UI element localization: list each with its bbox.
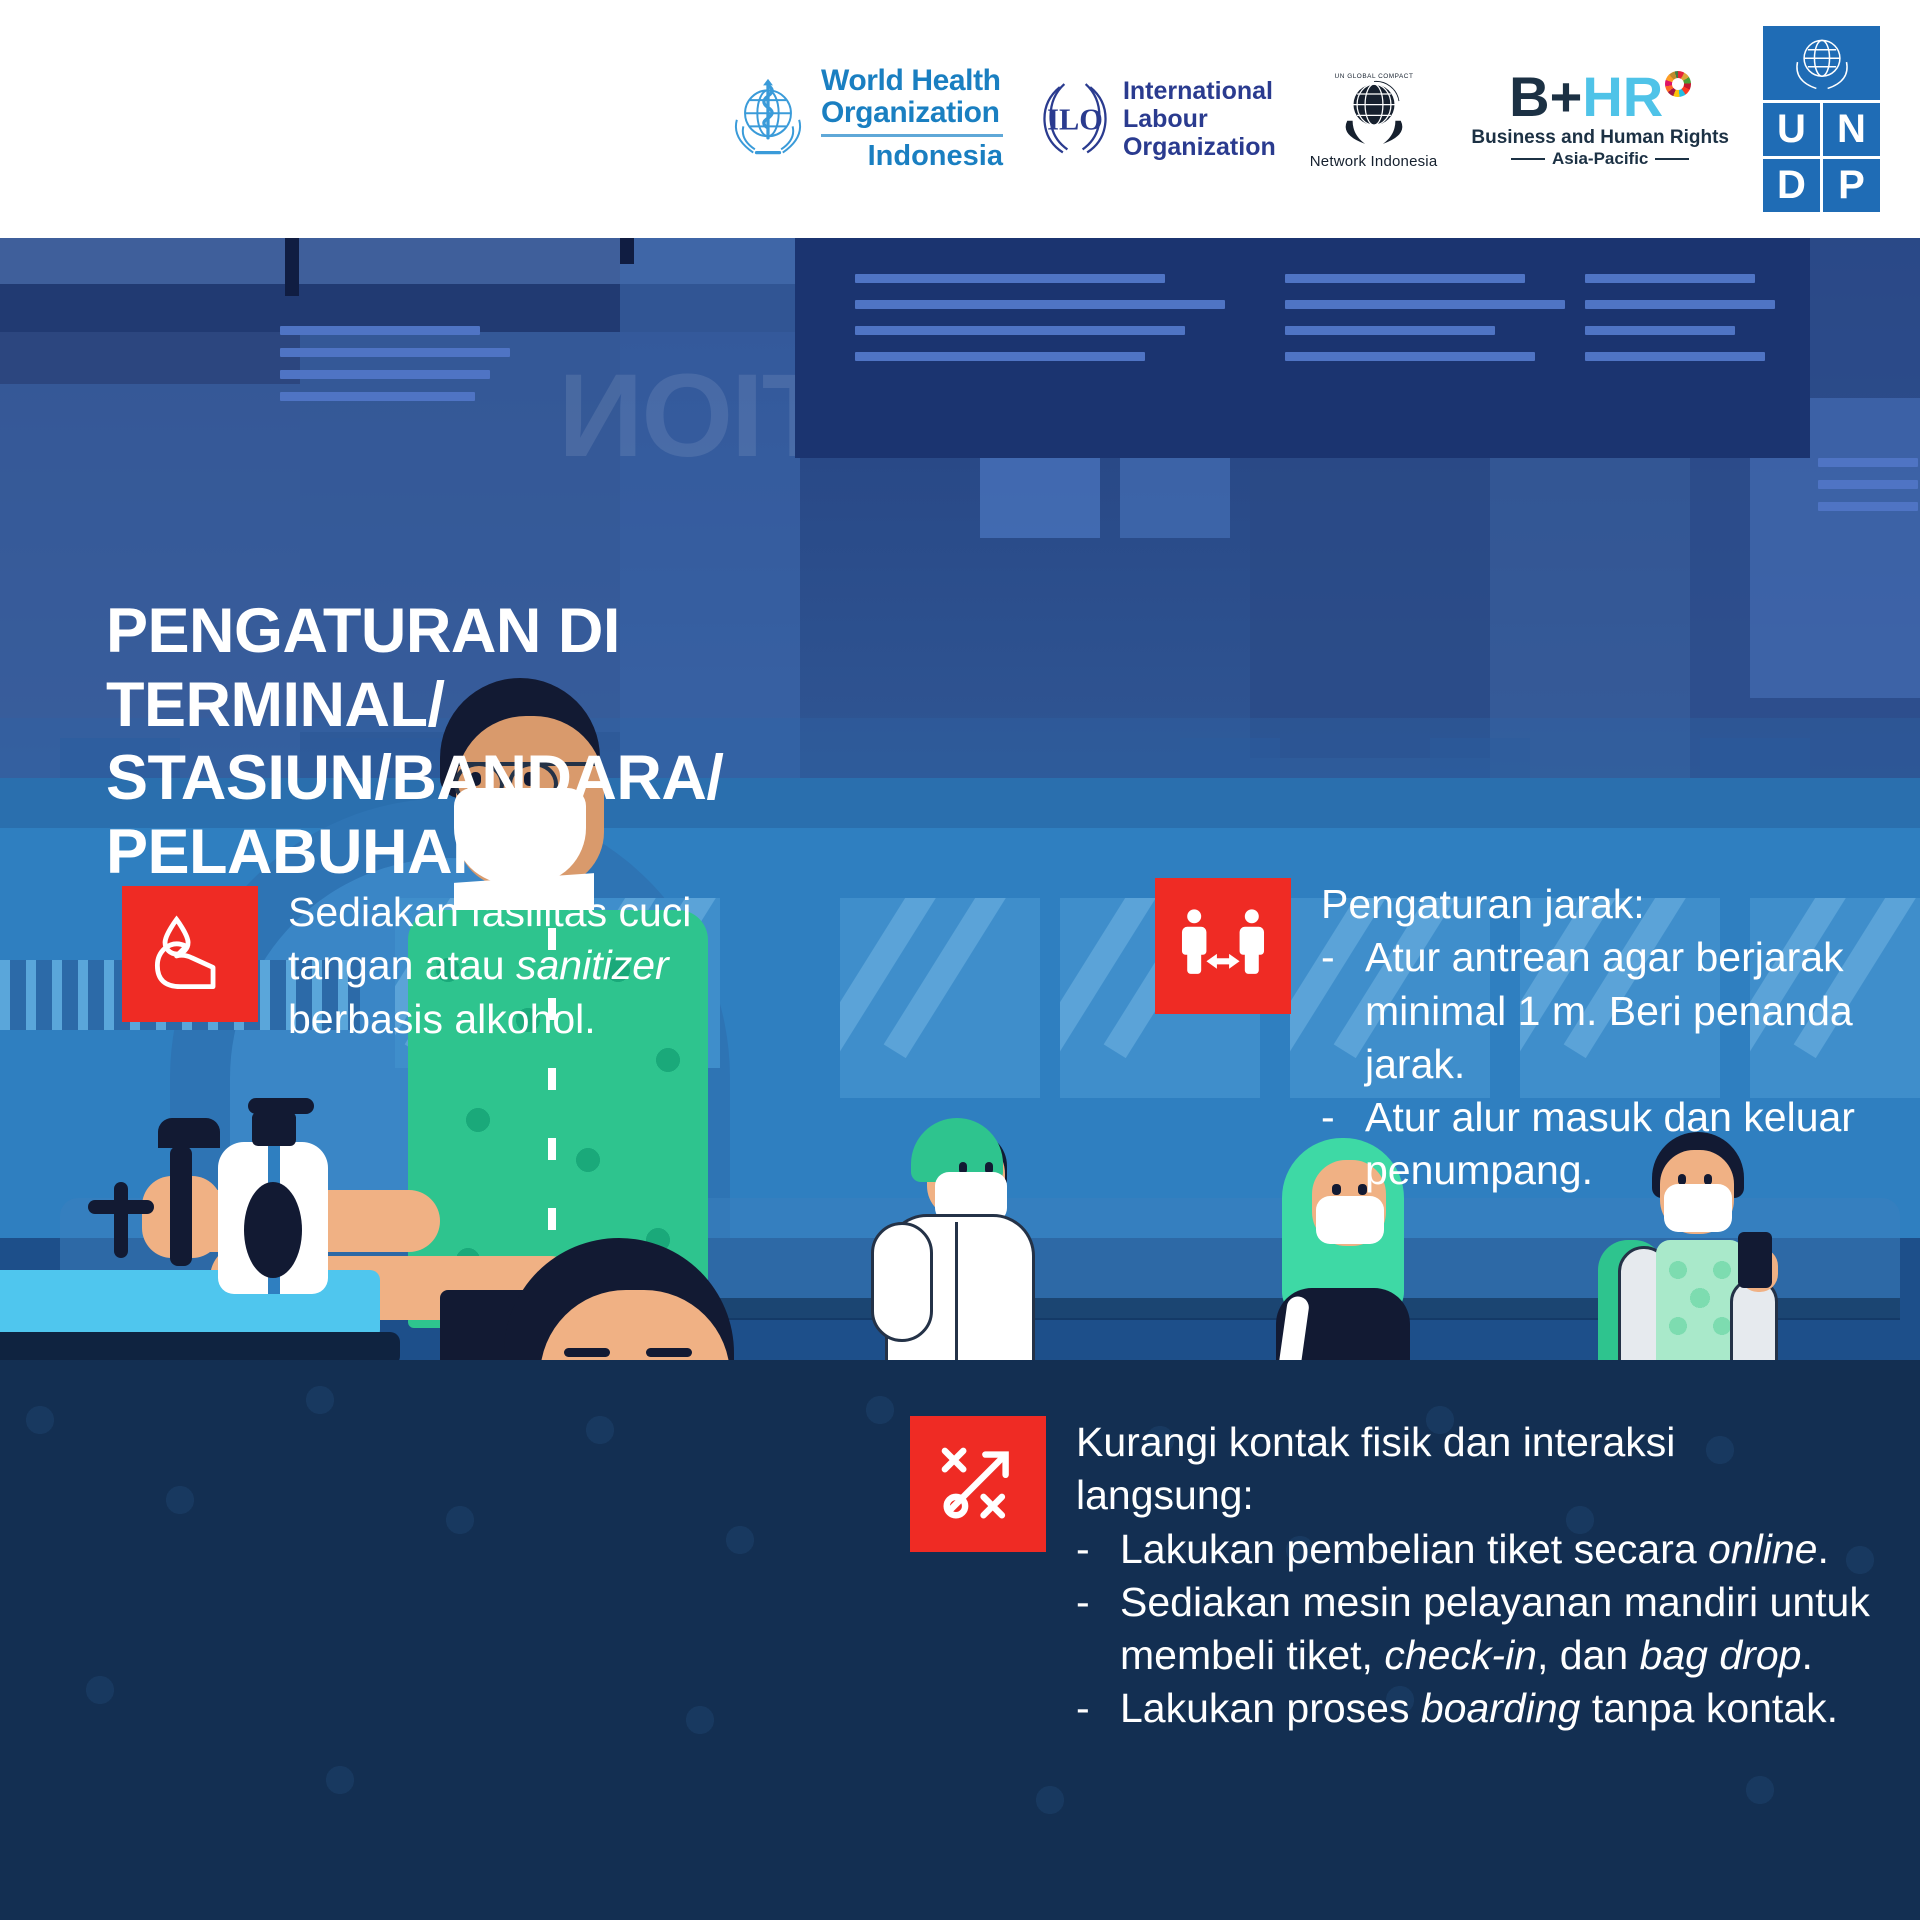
board-text-line: [1585, 274, 1755, 283]
rc1-pre: Lakukan pembelian tiket secara: [1120, 1526, 1708, 1572]
ilo-name-line3: Organization: [1123, 133, 1276, 161]
ilo-emblem-icon: ILO: [1037, 79, 1113, 159]
physical-distancing-icon: [1155, 878, 1291, 1014]
who-name-line1: World Health: [821, 65, 1003, 97]
rc2-post2: .: [1801, 1632, 1812, 1678]
reduce-contact-heading-2: langsung:: [1076, 1469, 1900, 1522]
rc2-em2: bag drop: [1640, 1632, 1802, 1678]
rc3-em: boarding: [1421, 1685, 1581, 1731]
bhr-letter-b: B: [1509, 69, 1549, 125]
global-compact-caption: Network Indonesia: [1310, 153, 1438, 170]
hand-wash-icon: [122, 886, 258, 1022]
rc3-post: tanpa kontak.: [1580, 1685, 1838, 1731]
rc2-em: check-in: [1384, 1632, 1537, 1678]
soap-pump-body: [252, 1112, 296, 1146]
ilo-mark-text: ILO: [1047, 103, 1103, 137]
rc2-post: , dan: [1537, 1632, 1640, 1678]
person-eyebrow: [646, 1348, 692, 1357]
distancing-item-text: Atur alur masuk dan keluar penumpang.: [1365, 1091, 1895, 1198]
bhr-plus-sign: +: [1550, 69, 1583, 125]
infographic-poster: World Health Organization Indonesia ILO: [0, 0, 1920, 1920]
page-title-line-1: PENGATURAN DI TERMINAL/: [106, 595, 946, 742]
advice-block-handwash: Sediakan fasilitas cuci tangan atau sani…: [122, 886, 762, 1046]
faucet-valve-stem: [114, 1182, 128, 1258]
board-text-line: [1818, 502, 1918, 511]
poster-illustration-scene: STATION: [0, 238, 1920, 1920]
reduce-contact-heading-1: Kurangi kontak fisik dan interaksi: [1076, 1416, 1900, 1469]
board-text-line: [280, 392, 475, 401]
global-compact-emblem-icon: UN GLOBAL COMPACT: [1328, 69, 1420, 151]
undp-letter-n: N: [1823, 103, 1880, 156]
ceiling-rod: [285, 238, 299, 296]
board-text-line: [1585, 300, 1775, 309]
rc1-em: online: [1708, 1526, 1817, 1572]
board-text-line: [1285, 352, 1535, 361]
board-text-line: [280, 370, 490, 379]
who-divider: [821, 134, 1003, 137]
reduce-contact-item: - Sediakan mesin pelayanan mandiri untuk…: [1076, 1576, 1900, 1683]
bullet-dash: -: [1076, 1576, 1098, 1683]
bhr-subtitle: Business and Human Rights: [1471, 127, 1729, 149]
reduce-contact-item-1: Lakukan pembelian tiket secara online.: [1120, 1523, 1900, 1576]
logo-world-health-organization: World Health Organization Indonesia: [727, 65, 1003, 173]
bg-block: [0, 332, 300, 384]
board-text-line: [280, 326, 480, 335]
who-name-line2: Organization: [821, 97, 1003, 129]
advice-text-distancing: Pengaturan jarak: - Atur antrean agar be…: [1321, 878, 1895, 1198]
bullet-dash: -: [1076, 1523, 1098, 1576]
soap-dispenser: [218, 1104, 328, 1294]
bhr-letters-hr: HR: [1582, 69, 1663, 125]
ceiling-rod: [620, 238, 634, 264]
advice-block-distancing: Pengaturan jarak: - Atur antrean agar be…: [1155, 878, 1895, 1198]
handwash-line-3: berbasis alkohol.: [288, 996, 596, 1042]
board-text-line: [855, 352, 1145, 361]
bullet-dash: -: [1321, 931, 1343, 1091]
logo-international-labour-organization: ILO International Labour Organization: [1037, 77, 1276, 161]
soap-pump-nozzle: [248, 1098, 314, 1114]
secondary-board-right: [1818, 448, 1920, 558]
distancing-item: - Atur antrean agar berjarak minimal 1 m…: [1321, 931, 1895, 1091]
distancing-heading: Pengaturan jarak:: [1321, 878, 1895, 931]
who-country-label: Indonesia: [821, 140, 1003, 173]
global-compact-ring-text: UN GLOBAL COMPACT: [1334, 72, 1413, 79]
faucet-spout: [170, 1146, 192, 1266]
handwash-line-2-em: sanitizer: [516, 942, 669, 988]
undp-letter-p: P: [1823, 159, 1880, 212]
rc3-pre: Lakukan proses: [1120, 1685, 1421, 1731]
reduce-contact-item-2: Sediakan mesin pelayanan mandiri untuk m…: [1120, 1576, 1900, 1683]
passenger-face-mask: [1316, 1196, 1384, 1244]
person-eyebrow: [564, 1348, 610, 1357]
un-emblem-icon: [1763, 26, 1880, 100]
soap-bottle-label: [244, 1182, 302, 1278]
board-text-line: [855, 274, 1165, 283]
bullet-dash: -: [1321, 1091, 1343, 1198]
advice-text-reduce-contact: Kurangi kontak fisik dan interaksi langs…: [1076, 1416, 1900, 1736]
reduce-contact-item: - Lakukan proses boarding tanpa kontak.: [1076, 1682, 1900, 1735]
undp-letter-u: U: [1763, 103, 1820, 156]
bhr-rule-right: [1655, 158, 1689, 160]
logo-business-human-rights: B + HR Business and Human Rights Asia-Pa…: [1471, 69, 1729, 169]
ilo-name-line2: Labour: [1123, 105, 1276, 133]
undp-letter-d: D: [1763, 159, 1820, 212]
handwash-line-1: Sediakan fasilitas cuci: [288, 889, 691, 935]
page-title-line-3: PELABUHAN: [106, 816, 946, 890]
ilo-name-line1: International: [1123, 77, 1276, 105]
advice-block-reduce-contact: Kurangi kontak fisik dan interaksi langs…: [910, 1416, 1900, 1736]
secondary-board: [280, 296, 540, 426]
bhr-rule-left: [1511, 158, 1545, 160]
handwash-line-2-pre: tangan atau: [288, 942, 516, 988]
rc1-post: .: [1817, 1526, 1828, 1572]
bhr-region-label: Asia-Pacific: [1552, 149, 1648, 169]
distancing-item-text: Atur antrean agar berjarak minimal 1 m. …: [1365, 931, 1895, 1091]
board-text-line: [855, 326, 1185, 335]
sdg-wheel-icon: [1665, 71, 1691, 97]
board-text-line: [1818, 458, 1918, 467]
logo-un-global-compact: UN GLOBAL COMPACT Network Indonesia: [1310, 69, 1438, 170]
departure-board: [795, 238, 1810, 458]
board-text-line: [1585, 326, 1735, 335]
reduce-contact-item: - Lakukan pembelian tiket secara online.: [1076, 1523, 1900, 1576]
board-text-line: [855, 300, 1225, 309]
board-text-line: [280, 348, 510, 357]
reduce-contact-item-3: Lakukan proses boarding tanpa kontak.: [1120, 1682, 1900, 1735]
board-text-line: [1585, 352, 1765, 361]
reduce-contact-icon: [910, 1416, 1046, 1552]
logo-undp: U N D P: [1763, 26, 1880, 212]
distancing-item: - Atur alur masuk dan keluar penumpang.: [1321, 1091, 1895, 1198]
board-text-line: [1285, 274, 1525, 283]
faucet-head: [158, 1118, 220, 1148]
who-emblem-icon: [727, 77, 809, 161]
page-title: PENGATURAN DI TERMINAL/ STASIUN/BANDARA/…: [106, 595, 946, 890]
bullet-dash: -: [1076, 1682, 1098, 1735]
board-text-line: [1818, 480, 1918, 489]
page-title-line-2: STASIUN/BANDARA/: [106, 742, 946, 816]
advice-text-handwash: Sediakan fasilitas cuci tangan atau sani…: [288, 886, 691, 1046]
board-text-line: [1285, 300, 1565, 309]
partner-logo-bar: World Health Organization Indonesia ILO: [0, 0, 1920, 238]
board-text-line: [1285, 326, 1495, 335]
passenger-smartphone-icon: [1738, 1232, 1772, 1288]
